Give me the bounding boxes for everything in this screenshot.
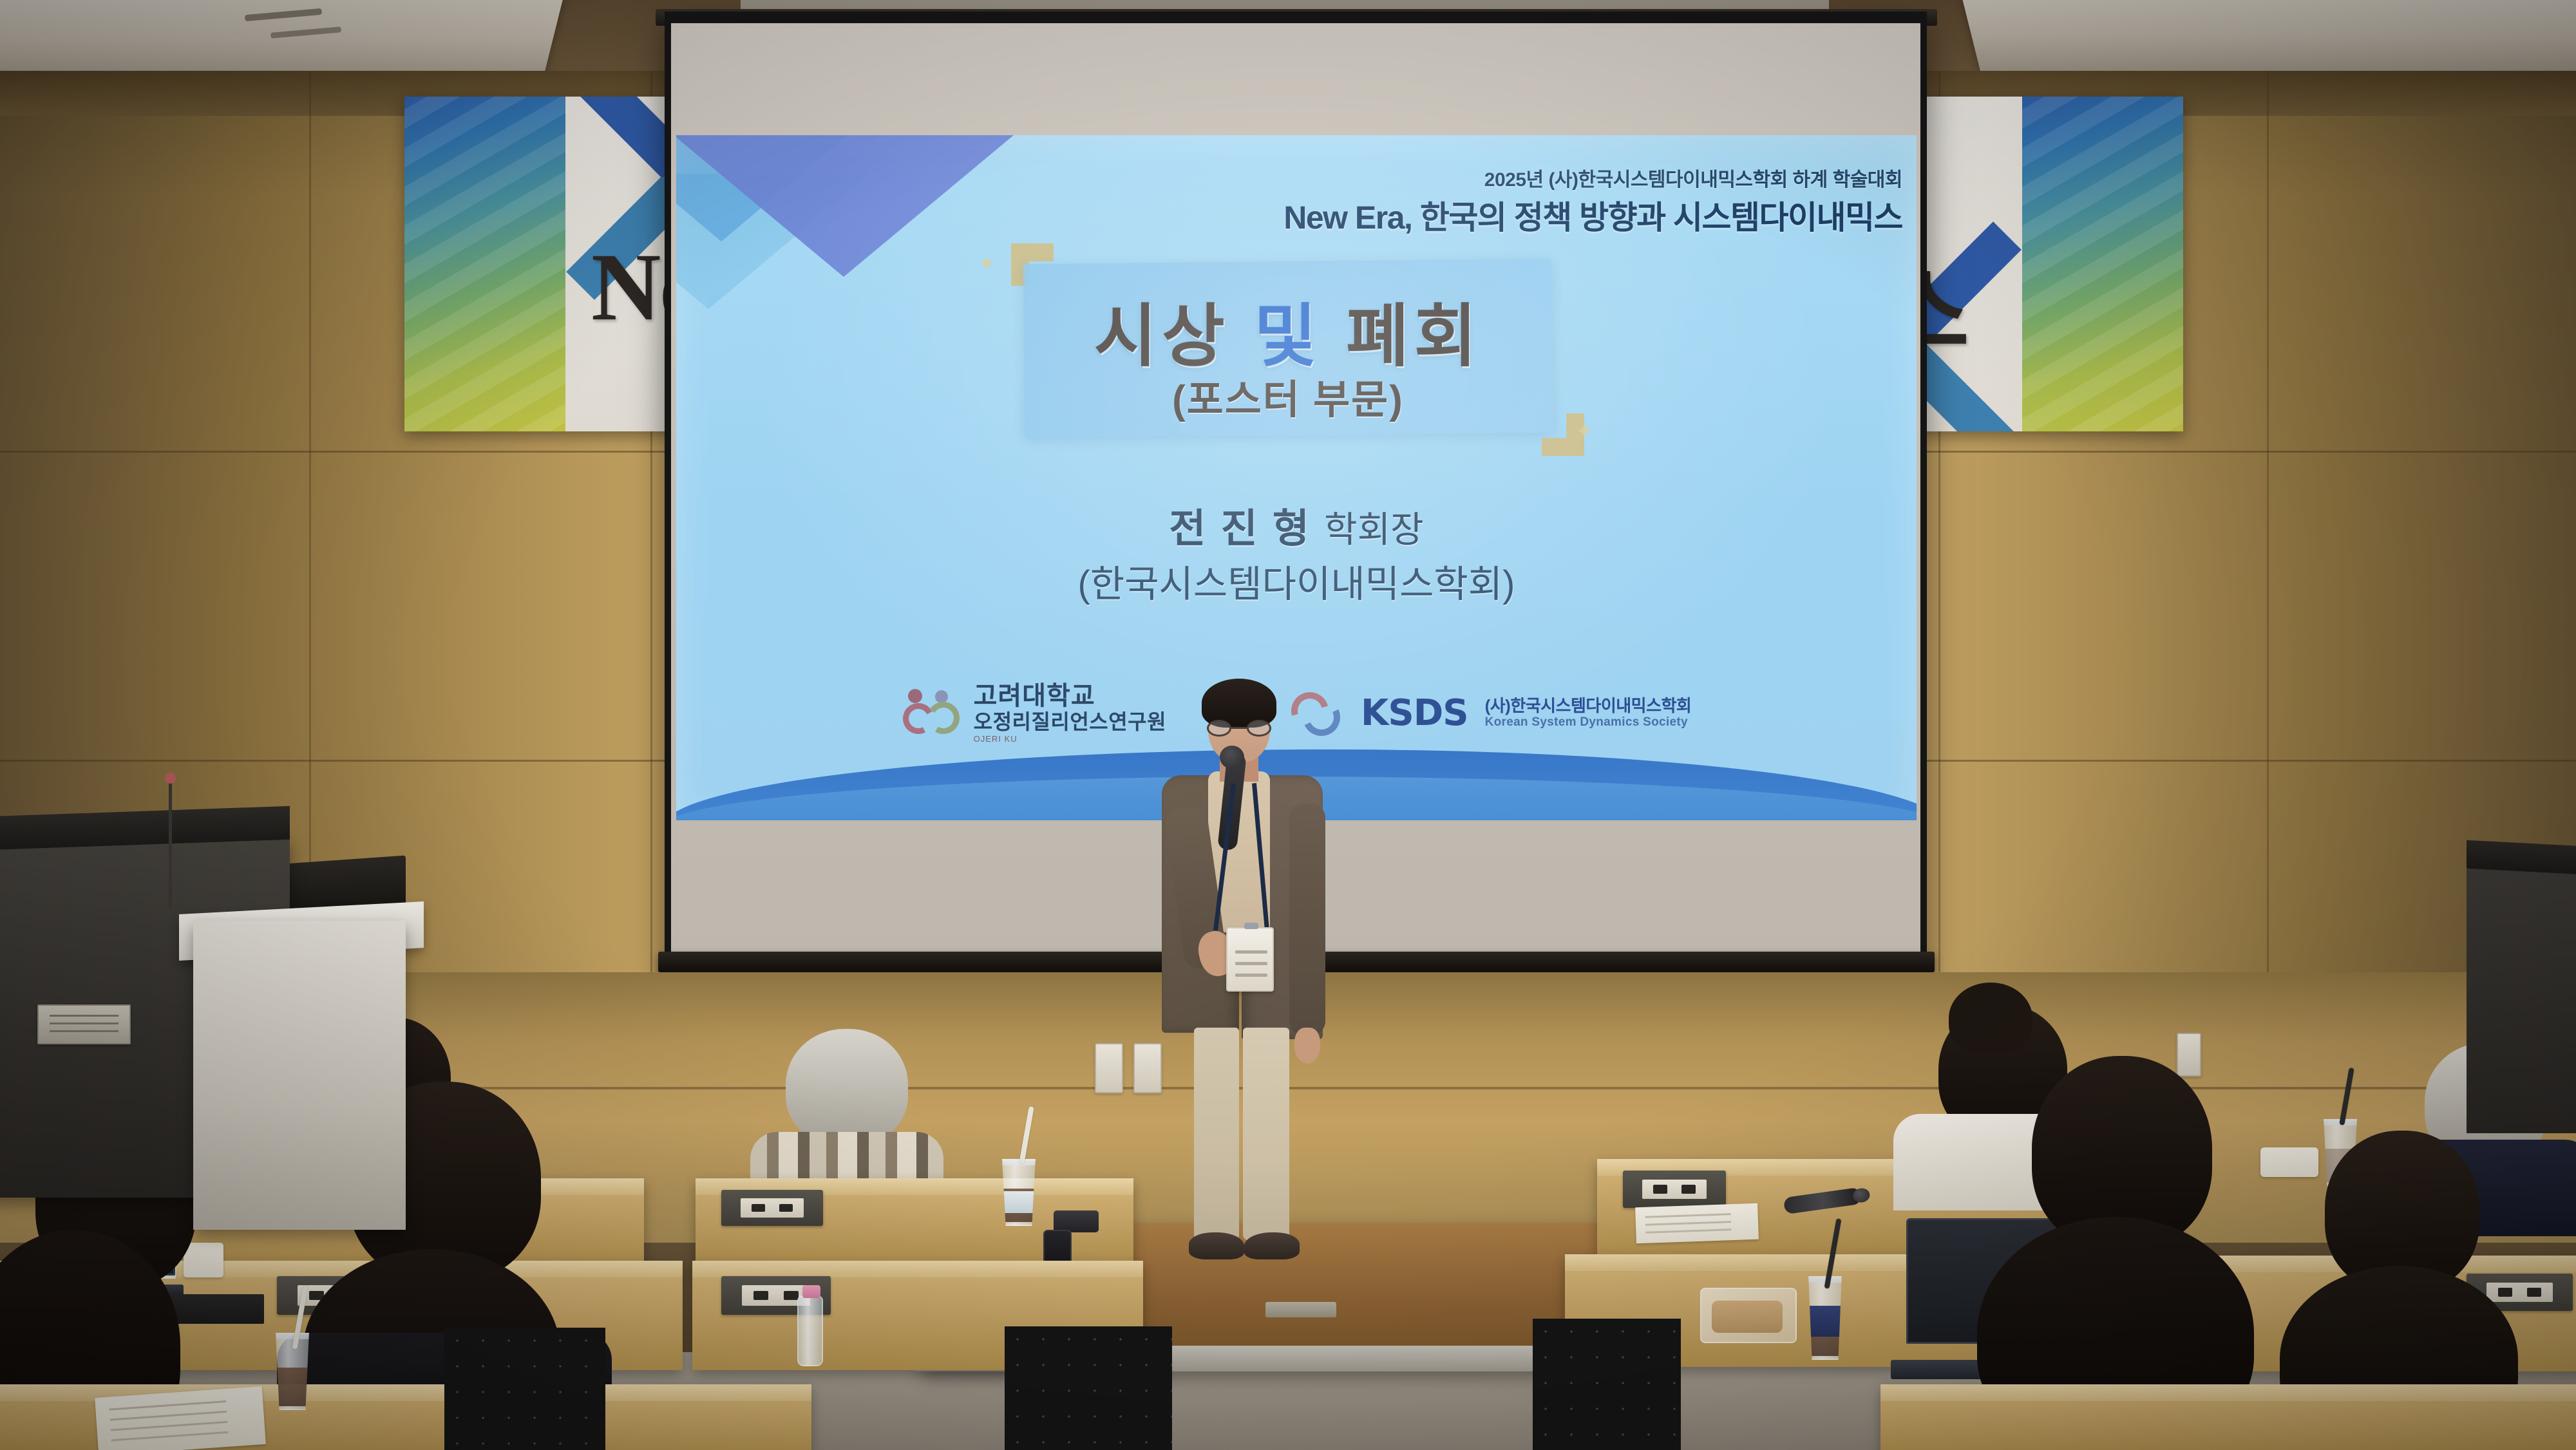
presenter-trousers-left — [1194, 1028, 1239, 1240]
presenter — [1153, 675, 1327, 1274]
desk-row-front-right — [1880, 1384, 2576, 1450]
water-bottle — [797, 1295, 823, 1366]
ksds-acronym: KSDS — [1361, 692, 1468, 734]
presenter-trousers-right — [1243, 1028, 1289, 1240]
program-booklet — [1635, 1203, 1759, 1244]
ku-logo-line1: 고려대학교 — [974, 682, 1166, 711]
desk-outlet-box[interactable] — [721, 1190, 823, 1226]
slide-title-part1: 시상 — [1094, 299, 1230, 375]
slide-speaker-role: 학회장 — [1324, 509, 1424, 550]
wall-outlet[interactable] — [1095, 1043, 1123, 1093]
presenter-hand-right — [1294, 1028, 1320, 1064]
slide-header-line2: New Era, 한국의 정책 방향과 시스템다이내믹스 — [1283, 192, 1902, 238]
slide-speaker-affiliation: (한국시스템다이내믹스학회) — [676, 554, 1917, 608]
side-console-right — [2467, 863, 2576, 1133]
slide-title-part2: 폐회 — [1346, 299, 1482, 375]
ksds-english-name: Korean System Dynamics Society — [1485, 715, 1692, 730]
seat-back-panel — [1533, 1319, 1681, 1450]
seat-back-panel — [1005, 1326, 1172, 1450]
ceiling-soffit-right — [1961, 0, 2576, 71]
stage-floor-outlet — [1265, 1302, 1336, 1317]
snack-bag — [1700, 1288, 1797, 1343]
slide-sparkle-icon: ✦ — [978, 251, 996, 277]
podium-microphone-icon — [169, 779, 172, 908]
name-badge — [1226, 927, 1274, 992]
slide-title: 시상 및 폐회 — [1024, 281, 1552, 380]
ksds-korean-name: (사)한국시스템다이내믹스학회 — [1485, 697, 1692, 716]
presenter-shoe-left — [1189, 1232, 1244, 1259]
slide-sparkle-icon: ✦ — [1575, 419, 1594, 444]
glasses-icon — [1207, 720, 1271, 737]
ku-logo-line2: 오정리질리언스연구원 — [974, 711, 1166, 734]
seat-back-panel — [444, 1328, 605, 1450]
attendee-hair-bun — [1949, 983, 2032, 1053]
microphone-head-icon — [1220, 746, 1244, 769]
presenter-arm-right — [1289, 804, 1325, 1035]
slide-speaker-name: 전 진 형 — [1169, 507, 1311, 551]
lectern-body — [193, 921, 406, 1230]
slide-header-line1: 2025년 (사)한국시스템다이내믹스학회 하계 학술대회 — [1484, 164, 1902, 192]
lectern-plaque — [37, 1004, 131, 1044]
wall-seam — [2267, 71, 2269, 1127]
presenter-shoe-right — [1244, 1232, 1300, 1259]
ksds-logo: KSDS (사)한국시스템다이내믹스학회 Korean System Dynam… — [1289, 688, 1691, 737]
slide-speaker-line: 전 진 형 학회장 — [676, 496, 1917, 554]
attendee-hair — [786, 1029, 908, 1145]
phone-pouch — [1054, 1210, 1099, 1232]
ku-logo-mark-text: OJERI KU — [974, 735, 1166, 744]
slide-subtitle: (포스터 부문) — [1024, 367, 1552, 425]
slide-title-amp: 및 — [1254, 299, 1322, 375]
desk-outlet-box[interactable] — [1623, 1171, 1726, 1208]
ojeri-mark-icon — [902, 689, 963, 737]
korea-university-logo: 고려대학교 오정리질리언스연구원 OJERI KU — [902, 682, 1166, 744]
program-booklet — [95, 1386, 266, 1450]
conference-hall-photo: New 스 2025년 (사)한국시스템다이내믹스학회 하계 학술대회 New … — [0, 0, 2576, 1450]
